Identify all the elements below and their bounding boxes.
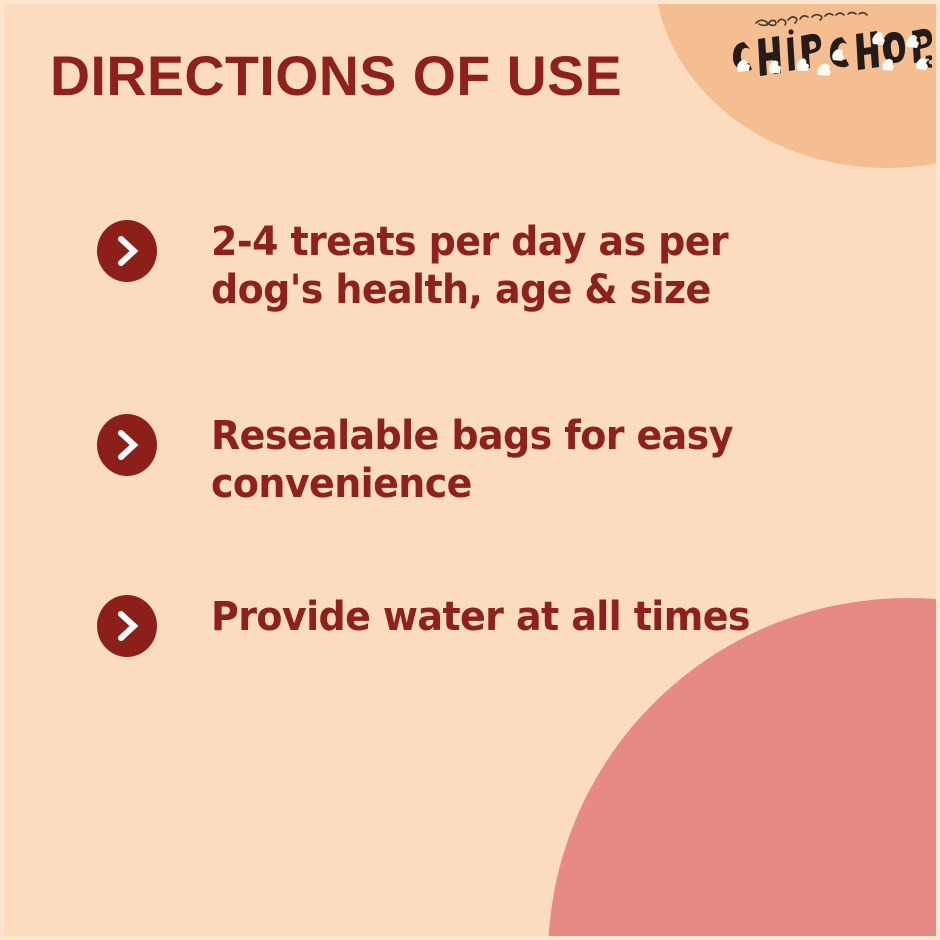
list-item: Resealable bags for easy convenience <box>97 412 797 502</box>
directions-list: 2-4 treats per day as per dog's health, … <box>97 218 797 657</box>
list-item-label: Provide water at all times <box>211 593 750 641</box>
chevron-right-icon <box>97 220 157 282</box>
list-item: 2-4 treats per day as per dog's health, … <box>97 218 797 308</box>
list-item: Provide water at all times <box>97 593 797 657</box>
list-item-label: Resealable bags for easy convenience <box>211 412 751 507</box>
chevron-right-icon <box>97 414 157 476</box>
list-item-label: 2-4 treats per day as per dog's health, … <box>211 218 751 313</box>
page-title: DIRECTIONS OF USE <box>50 48 622 104</box>
directions-of-use-poster: DIRECTIONS OF USE 2-4 treats per day as … <box>0 0 940 940</box>
chip-chops-logo <box>722 6 932 90</box>
chevron-right-icon <box>97 595 157 657</box>
